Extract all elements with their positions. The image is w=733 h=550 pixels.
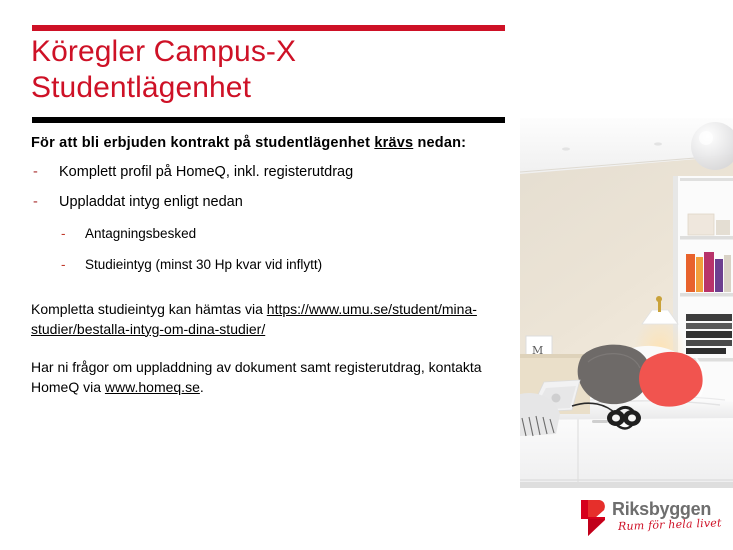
logo-tagline: Rum för hela livet bbox=[618, 516, 722, 533]
contact-paragraph-text: Har ni frågor om uppladdning av dokument… bbox=[31, 359, 482, 395]
lead-statement-emphasis: krävs bbox=[374, 135, 413, 151]
student-apartment-photo: M A bbox=[520, 118, 733, 488]
lead-statement-part2: nedan: bbox=[413, 135, 466, 151]
requirements-list: - Komplett profil på HomeQ, inkl. regist… bbox=[31, 163, 501, 274]
bullet-dash-icon: - bbox=[61, 256, 66, 274]
homeq-link[interactable]: www.homeq.se bbox=[105, 379, 200, 395]
contact-paragraph: Har ni frågor om uppladdning av dokument… bbox=[31, 358, 501, 397]
list-item-label: Antagningsbesked bbox=[85, 226, 196, 241]
lead-statement: För att bli erbjuden kontrakt på student… bbox=[31, 133, 501, 153]
certificate-paragraph-text: Kompletta studieintyg kan hämtas via bbox=[31, 301, 267, 317]
body-content: För att bli erbjuden kontrakt på student… bbox=[31, 133, 501, 397]
slide-canvas: Köregler Campus-X Studentlägenhet För at… bbox=[0, 0, 733, 550]
riksbyggen-logo: Riksbyggen Rum för hela livet bbox=[578, 497, 728, 541]
list-item: - Komplett profil på HomeQ, inkl. regist… bbox=[31, 163, 501, 182]
bullet-dash-icon: - bbox=[33, 163, 38, 182]
list-item: - Studieintyg (minst 30 Hp kvar vid infl… bbox=[59, 256, 501, 274]
list-item: - Antagningsbesked bbox=[59, 225, 501, 243]
riksbyggen-mark-icon bbox=[578, 498, 608, 538]
page-title: Köregler Campus-X Studentlägenhet bbox=[31, 34, 511, 106]
documents-sublist: - Antagningsbesked - Studieintyg (minst … bbox=[59, 225, 501, 274]
list-item-label: Komplett profil på HomeQ, inkl. register… bbox=[59, 164, 353, 180]
lead-statement-part1: För att bli erbjuden kontrakt på student… bbox=[31, 135, 374, 151]
bullet-dash-icon: - bbox=[33, 193, 38, 212]
list-item-label: Uppladdat intyg enligt nedan bbox=[59, 194, 243, 210]
list-item-label: Studieintyg (minst 30 Hp kvar vid inflyt… bbox=[85, 257, 322, 272]
bullet-dash-icon: - bbox=[61, 225, 66, 243]
photo-illustration: M A bbox=[520, 118, 733, 488]
list-item: - Uppladdat intyg enligt nedan - Antagni… bbox=[31, 193, 501, 274]
header-red-rule bbox=[32, 25, 505, 31]
header-black-rule bbox=[32, 117, 505, 123]
contact-paragraph-tail: . bbox=[200, 379, 204, 395]
certificate-paragraph: Kompletta studieintyg kan hämtas via htt… bbox=[31, 300, 501, 339]
